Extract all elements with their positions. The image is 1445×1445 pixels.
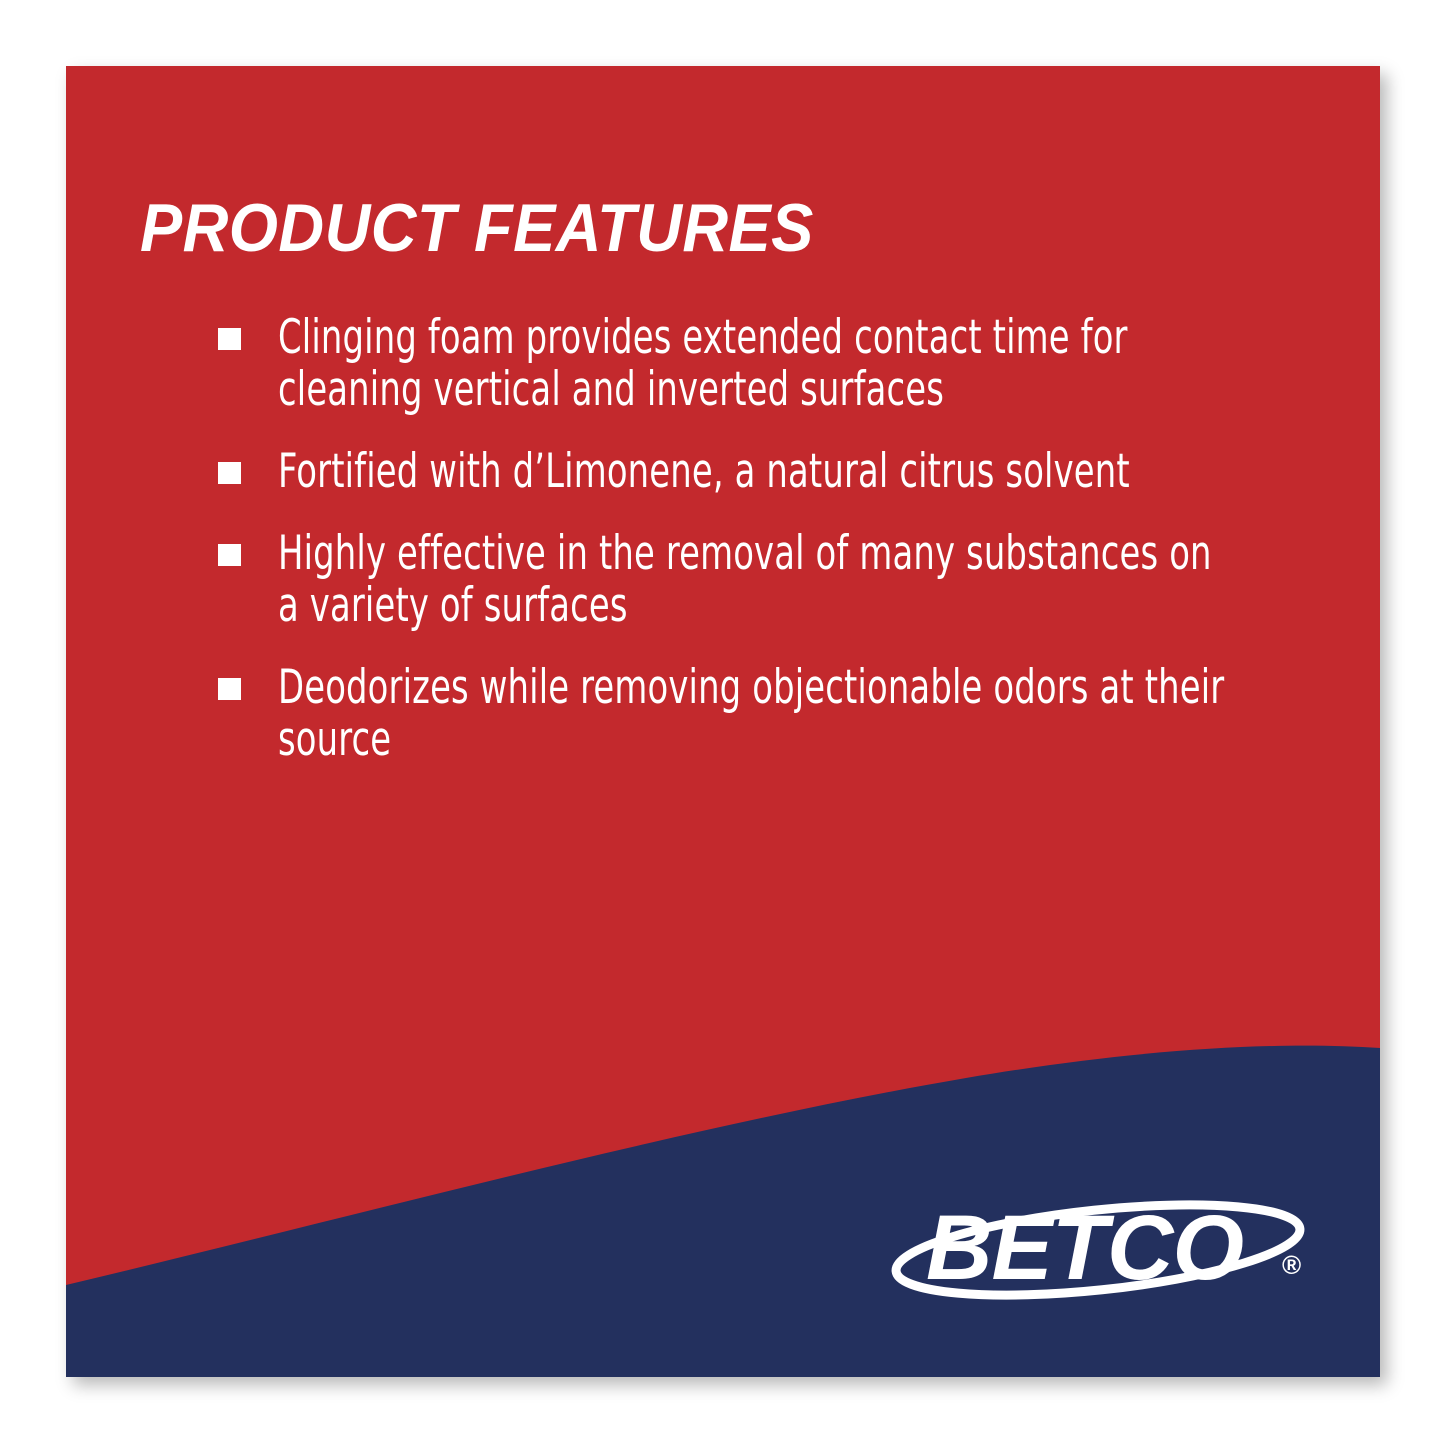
feature-text: Deodorizes while removing objectionable …	[278, 662, 1228, 766]
product-features-card: PRODUCT FEATURES Clinging foam provides …	[66, 66, 1380, 1377]
feature-list: Clinging foam provides extended contact …	[218, 312, 1228, 766]
registered-mark-icon: ®	[1282, 1250, 1301, 1280]
feature-text: Fortified with d’Limonene, a natural cit…	[278, 446, 1228, 498]
list-item: Highly effective in the removal of many …	[218, 528, 1228, 632]
square-bullet-icon	[218, 678, 241, 700]
betco-logo: BETCO ®	[878, 1182, 1318, 1312]
feature-text: Highly effective in the removal of many …	[278, 528, 1228, 632]
list-item: Clinging foam provides extended contact …	[218, 312, 1228, 416]
square-bullet-icon	[218, 328, 241, 350]
feature-text: Clinging foam provides extended contact …	[278, 312, 1228, 416]
square-bullet-icon	[218, 544, 241, 566]
list-item: Deodorizes while removing objectionable …	[218, 662, 1228, 766]
betco-logo-svg: BETCO ®	[878, 1182, 1318, 1312]
screenshot-stage: PRODUCT FEATURES Clinging foam provides …	[0, 0, 1445, 1445]
list-item: Fortified with d’Limonene, a natural cit…	[218, 446, 1228, 498]
page-title: PRODUCT FEATURES	[140, 194, 814, 262]
betco-wordmark: BETCO	[926, 1197, 1243, 1299]
square-bullet-icon	[218, 462, 241, 484]
